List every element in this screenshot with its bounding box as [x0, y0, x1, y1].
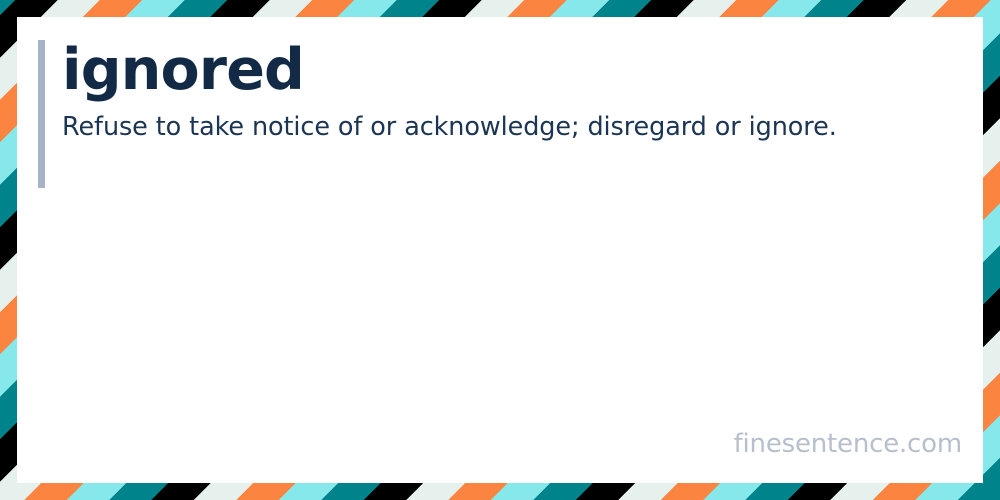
definition-card: ignored Refuse to take notice of or ackn… — [0, 0, 1000, 500]
page-title: ignored — [62, 40, 962, 100]
dictionary-entry: ignored Refuse to take notice of or ackn… — [38, 40, 962, 146]
left-accent-bar — [38, 40, 45, 188]
site-watermark: finesentence.com — [734, 429, 962, 459]
white-content-panel: ignored Refuse to take notice of or ackn… — [17, 17, 983, 483]
definition-body-text: Refuse to take notice of or acknowledge;… — [62, 109, 905, 145]
